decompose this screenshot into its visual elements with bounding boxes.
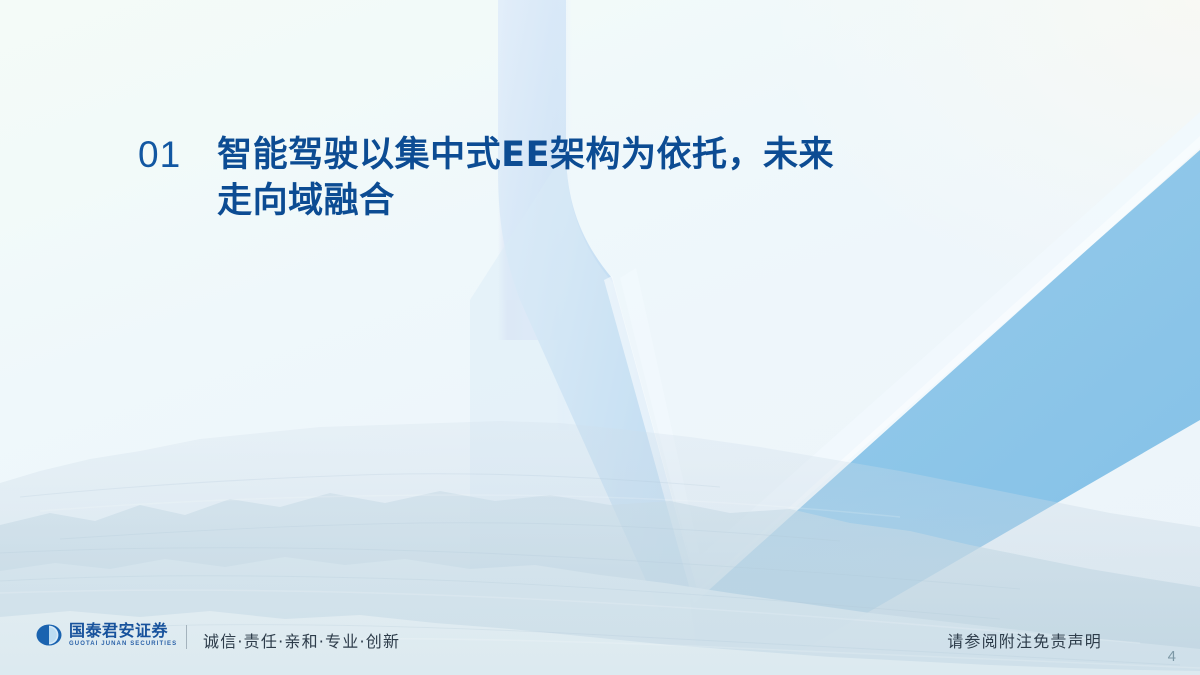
page-number: 4	[1168, 648, 1176, 665]
brand-slogan: 诚信·责任·亲和·专业·创新	[203, 628, 400, 652]
footer-divider	[186, 625, 187, 649]
section-title-block: 01 智能驾驶以集中式EE架构为依托，未来 走向域融合	[138, 132, 834, 224]
disclaimer-note: 请参阅附注免责声明	[947, 628, 1102, 652]
section-number: 01	[138, 132, 181, 178]
brand-lockup: 国泰君安证券 GUOTAI JUNAN SECURITIES	[36, 623, 177, 647]
page-title-line-1: 智能驾驶以集中式EE架构为依托，未来	[217, 132, 834, 178]
brand-name: 国泰君安证券 GUOTAI JUNAN SECURITIES	[69, 623, 177, 647]
brand-name-cn: 国泰君安证券	[69, 623, 177, 639]
slide-footer: 国泰君安证券 GUOTAI JUNAN SECURITIES 诚信·责任·亲和·…	[0, 609, 1200, 675]
brand-name-en: GUOTAI JUNAN SECURITIES	[69, 641, 177, 647]
page-title-line-2: 走向域融合	[217, 178, 834, 224]
page-title: 智能驾驶以集中式EE架构为依托，未来 走向域融合	[217, 132, 834, 224]
guotai-junan-circle-mark	[36, 624, 62, 646]
slide-canvas: 01 智能驾驶以集中式EE架构为依托，未来 走向域融合 国泰君安证券 GUOTA…	[0, 0, 1200, 675]
